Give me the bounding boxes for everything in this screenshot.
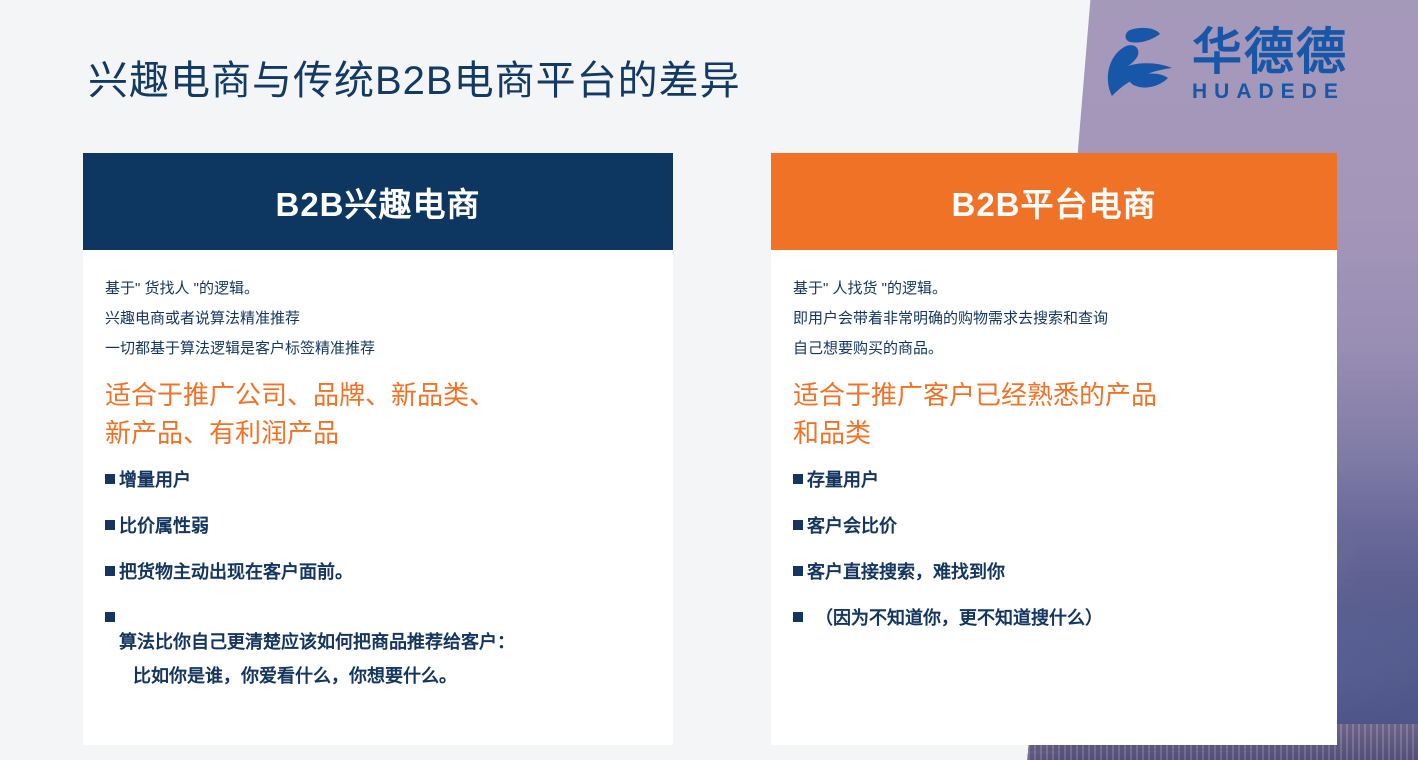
- lead-line: 一切都基于算法逻辑是客户标签精准推荐: [105, 334, 651, 364]
- list-item-main: 算法比你自己更清楚应该如何把商品推荐给客户：: [119, 632, 515, 652]
- list-item: 存量用户: [793, 468, 1315, 492]
- brand-logo: 华德德 HUADEDE: [1086, 14, 1404, 114]
- square-bullet-icon: [105, 474, 115, 484]
- list-item-label: 算法比你自己更清楚应该如何把商品推荐给客户： 比如你是谁，你爱看什么，你想要什么…: [119, 606, 515, 712]
- running-figure-logo-icon: [1086, 22, 1178, 106]
- list-item-label: 存量用户: [807, 468, 879, 492]
- square-bullet-icon: [105, 520, 115, 530]
- highlight-line: 适合于推广公司、品牌、新品类、: [105, 376, 651, 414]
- lead-line: 基于" 货找人 "的逻辑。: [105, 274, 651, 304]
- list-item-label: 增量用户: [119, 468, 191, 492]
- list-item: 增量用户: [105, 468, 651, 492]
- card-title-right: B2B平台电商: [951, 178, 1156, 226]
- list-item-label: 比价属性弱: [119, 514, 209, 538]
- list-item: 客户直接搜索，难找到你: [793, 560, 1315, 584]
- card-header-right: B2B平台电商: [771, 153, 1337, 250]
- square-bullet-icon: [793, 566, 803, 576]
- highlight-line: 适合于推广客户已经熟悉的产品: [793, 376, 1315, 414]
- square-bullet-icon: [105, 566, 115, 576]
- card-header-left: B2B兴趣电商: [83, 153, 673, 250]
- list-item: （因为不知道你，更不知道搜什么）: [793, 606, 1315, 630]
- logo-english-name: HUADEDE: [1192, 81, 1348, 102]
- lead-line: 兴趣电商或者说算法精准推荐: [105, 304, 651, 334]
- highlight-text: 适合于推广客户已经熟悉的产品 和品类: [793, 376, 1315, 452]
- list-item: 算法比你自己更清楚应该如何把商品推荐给客户： 比如你是谁，你爱看什么，你想要什么…: [105, 606, 651, 712]
- highlight-line: 和品类: [793, 414, 1315, 452]
- list-item-label: （因为不知道你，更不知道搜什么）: [815, 606, 1103, 630]
- bullet-list-left: 增量用户 比价属性弱 把货物主动出现在客户面前。 算法比你自己更清楚应该如何把商…: [105, 468, 651, 712]
- square-bullet-icon: [793, 612, 803, 622]
- list-item-label: 客户会比价: [807, 514, 897, 538]
- logo-wordmark: 华德德 HUADEDE: [1192, 27, 1348, 102]
- list-item: 比价属性弱: [105, 514, 651, 538]
- list-item: 把货物主动出现在客户面前。: [105, 560, 651, 584]
- card-title-left: B2B兴趣电商: [275, 178, 480, 226]
- logo-chinese-name: 华德德: [1192, 27, 1348, 77]
- highlight-line: 新产品、有利润产品: [105, 414, 651, 452]
- bullet-list-right: 存量用户 客户会比价 客户直接搜索，难找到你 （因为不知道你，更不知道搜什么）: [793, 468, 1315, 630]
- lead-line: 自己想要购买的商品。: [793, 334, 1315, 364]
- card-body-left: 基于" 货找人 "的逻辑。 兴趣电商或者说算法精准推荐 一切都基于算法逻辑是客户…: [83, 250, 673, 712]
- lead-line: 基于" 人找货 "的逻辑。: [793, 274, 1315, 304]
- square-bullet-icon: [793, 474, 803, 484]
- highlight-text: 适合于推广公司、品牌、新品类、 新产品、有利润产品: [105, 376, 651, 452]
- page-title: 兴趣电商与传统B2B电商平台的差异: [88, 48, 741, 106]
- square-bullet-icon: [793, 520, 803, 530]
- list-item-label: 把货物主动出现在客户面前。: [119, 560, 353, 584]
- lead-line: 即用户会带着非常明确的购物需求去搜索和查询: [793, 304, 1315, 334]
- card-b2b-platform-ecommerce: B2B平台电商 基于" 人找货 "的逻辑。 即用户会带着非常明确的购物需求去搜索…: [771, 153, 1337, 745]
- list-item-label: 客户直接搜索，难找到你: [807, 560, 1005, 584]
- card-body-right: 基于" 人找货 "的逻辑。 即用户会带着非常明确的购物需求去搜索和查询 自己想要…: [771, 250, 1337, 630]
- square-bullet-icon: [105, 612, 115, 622]
- list-item-continuation: 比如你是谁，你爱看什么，你想要什么。: [119, 664, 515, 688]
- card-b2b-interest-ecommerce: B2B兴趣电商 基于" 货找人 "的逻辑。 兴趣电商或者说算法精准推荐 一切都基…: [83, 153, 673, 745]
- list-item: 客户会比价: [793, 514, 1315, 538]
